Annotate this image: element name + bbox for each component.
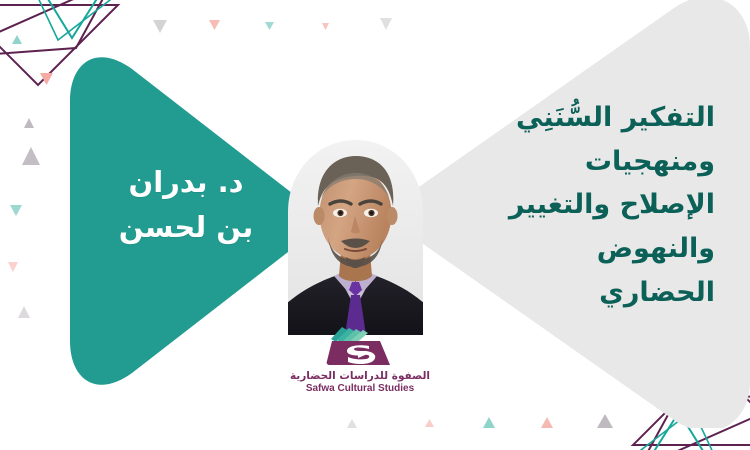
outline-triangle-purple-top-left-cross: [0, 0, 112, 58]
outline-triangle-teal-top-left: [40, 0, 105, 38]
lecture-title-line-5: الحضاري: [415, 271, 715, 315]
logo-name-arabic: الصفوة للدراسات الحضارية: [290, 370, 430, 383]
safwa-logo-icon: [314, 325, 406, 369]
small-triangle-gray: [18, 306, 30, 318]
small-triangle-pink: [209, 20, 220, 30]
small-triangle-gray: [153, 20, 167, 33]
lecture-title: التفكير السُّنَنِي ومنهجيات الإصلاح والت…: [415, 96, 715, 315]
small-triangle-pink: [8, 262, 18, 272]
speaker-name: د. بدران بن لحسن: [86, 160, 286, 250]
organisation-logo: الصفوة للدراسات الحضارية Safwa Cultural …: [290, 325, 430, 396]
outline-triangle-teal-top-left-b: [25, 0, 110, 40]
speaker-portrait: [288, 140, 423, 335]
lecture-title-line-2: ومنهجيات: [415, 140, 715, 184]
lecture-banner: د. بدران بن لحسن التفكير السُّنَنِي ومنه…: [0, 0, 750, 450]
small-triangle-gray: [22, 147, 40, 165]
lecture-title-line-1: التفكير السُّنَنِي: [415, 96, 715, 140]
small-triangle-pink: [322, 23, 329, 30]
small-triangle-teal: [265, 22, 274, 30]
lecture-title-line-3: الإصلاح والتغيير: [415, 183, 715, 227]
small-triangle-teal: [10, 205, 22, 216]
small-triangle-gray: [24, 118, 34, 128]
lecture-title-line-4: والنهوض: [415, 227, 715, 271]
logo-name-english: Safwa Cultural Studies: [290, 383, 430, 396]
small-triangle-teal: [12, 35, 22, 44]
speaker-name-line-2: بن لحسن: [86, 205, 286, 250]
speaker-name-line-1: د. بدران: [86, 160, 286, 205]
small-triangle-pink: [40, 73, 53, 85]
small-triangle-column-left: [8, 35, 53, 318]
